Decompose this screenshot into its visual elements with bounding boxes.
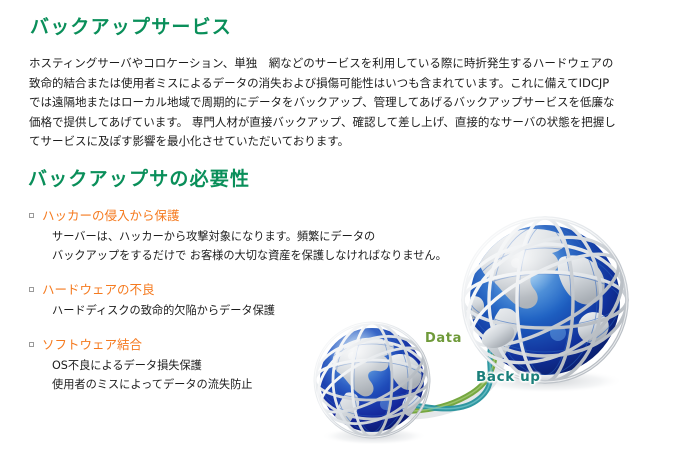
- backup-service-page: バックアップサービス ホスティングサーバやコロケーション、単独 網などのサービス…: [0, 0, 680, 460]
- page-title: バックアップサービス: [30, 18, 232, 37]
- feature-description-line: サーバーは、ハッカーから攻撃対象になります。頻繁にデータの: [52, 227, 448, 246]
- section-heading-necessity: バックアップサの必要性: [28, 170, 250, 189]
- paragraph-line: 価格で提供してあげています。 専門人材が直接バックアップ、確認して差し上げ、直接…: [29, 113, 651, 133]
- feature-list: ハッカーの侵入から保護 サーバーは、ハッカーから攻撃対象になります。頻繁にデータ…: [28, 207, 448, 406]
- paragraph-line: では遠隔地またはローカル地域で周期的にデータをバックアップ、管理してあげるバック…: [29, 93, 651, 113]
- cable-label-data: Data: [425, 331, 462, 346]
- globe-large: [446, 212, 643, 388]
- feature-description: ハードディスクの致命的欠陥からデータ保護: [28, 301, 448, 320]
- square-bullet-icon: [29, 213, 34, 218]
- square-bullet-icon: [29, 342, 34, 347]
- feature-title: ハッカーの侵入から保護: [42, 208, 180, 223]
- intro-paragraph: ホスティングサーバやコロケーション、単独 網などのサービスを利用している際に時折…: [29, 54, 651, 152]
- cable-label-backup: Back up: [476, 369, 541, 385]
- feature-description-line: バックアップをするだけで お客様の大切な資産を保護しなければなりません。: [52, 246, 448, 265]
- continents: [460, 229, 609, 378]
- feature-title-row: ハードウェアの不良: [28, 281, 448, 298]
- feature-description-line: 使用者のミスによってデータの流失防止: [52, 375, 448, 394]
- list-item: ソフトウェア結合 OS不良によるデータ損失保護 使用者のミスによってデータの流失…: [28, 336, 448, 394]
- feature-description-line: OS不良によるデータ損失保護: [52, 356, 448, 375]
- globe-cage: [446, 212, 643, 388]
- feature-description-line: ハードディスクの致命的欠陥からデータ保護: [52, 301, 448, 320]
- list-item: ハッカーの侵入から保護 サーバーは、ハッカーから攻撃対象になります。頻繁にデータ…: [28, 207, 448, 265]
- feature-title: ハードウェアの不良: [42, 282, 155, 297]
- globe-shadow: [321, 427, 427, 445]
- square-bullet-icon: [29, 287, 34, 292]
- feature-title-row: ハッカーの侵入から保護: [28, 207, 448, 224]
- feature-title-row: ソフトウェア結合: [28, 336, 448, 353]
- feature-title: ソフトウェア結合: [42, 337, 142, 352]
- paragraph-line: ホスティングサーバやコロケーション、単独 網などのサービスを利用している際に時折…: [29, 54, 651, 74]
- paragraph-line: てサービスに及ぽす影響を最小化させていただいております。: [29, 132, 651, 152]
- feature-description: サーバーは、ハッカーから攻撃対象になります。頻繁にデータの バックアップをするだ…: [28, 227, 448, 265]
- globe-node: [478, 319, 518, 352]
- list-item: ハードウェアの不良 ハードディスクの致命的欠陥からデータ保護: [28, 281, 448, 320]
- paragraph-line: 致命的結合または使用者ミスによるデータの消失および損傷可能性はいつも含まれていま…: [29, 74, 651, 94]
- feature-description: OS不良によるデータ損失保護 使用者のミスによってデータの流失防止: [28, 356, 448, 394]
